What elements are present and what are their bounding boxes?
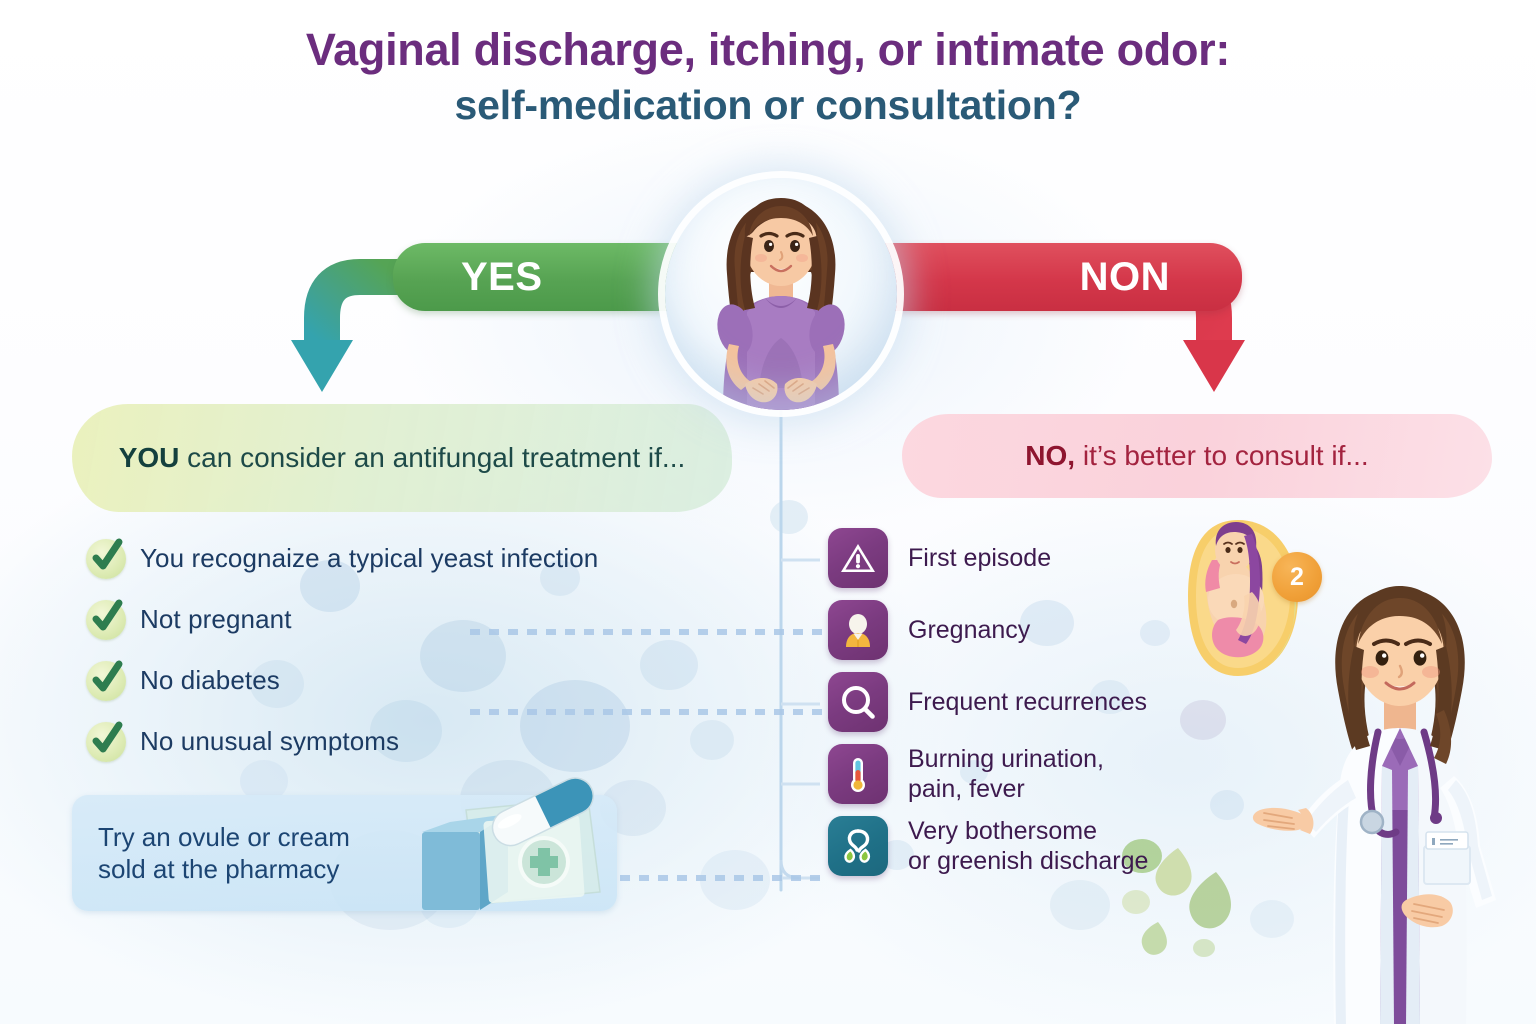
list-item: Very bothersome or greenish discharge [828, 816, 1248, 876]
right-callout: NO, it’s better to consult if... [902, 414, 1492, 498]
check-icon [86, 661, 126, 701]
list-item: Burning urination, pain, fever [828, 744, 1248, 804]
warning-triangle-icon [828, 528, 888, 588]
right-callout-rest: it’s better to consult if... [1075, 440, 1369, 471]
list-item: Gregnancy [828, 600, 1248, 660]
risk-label: Gregnancy [908, 615, 1030, 645]
list-item: First episode [828, 528, 1248, 588]
checklist-label: You recognaize a typical yeast infection [140, 543, 598, 574]
yes-label: YES [461, 255, 543, 300]
risk-label: First episode [908, 543, 1051, 573]
title-line-2: self-medication or consultation? [0, 83, 1536, 127]
pharmacy-advice-text: Try an ovule or cream sold at the pharma… [72, 821, 428, 885]
discharge-icon [828, 816, 888, 876]
self-care-checklist: You recognaize a typical yeast infection… [86, 528, 746, 772]
risk-label-line-2: pain, fever [908, 774, 1104, 804]
checklist-label: Not pregnant [140, 604, 292, 635]
pregnancy-badge-number: 2 [1290, 563, 1304, 592]
pharmacy-advice-card: Try an ovule or cream sold at the pharma… [72, 795, 617, 911]
list-item: No diabetes [86, 650, 746, 711]
left-callout-lead: YOU [119, 442, 180, 473]
right-callout-lead: NO, [1025, 440, 1075, 471]
pharmacy-advice-line-1: Try an ovule or cream [98, 821, 428, 853]
list-item: Not pregnant [86, 589, 746, 650]
risk-label: Very bothersome or greenish discharge [908, 816, 1148, 876]
magnifier-icon [828, 672, 888, 732]
risk-label-line-2: or greenish discharge [908, 846, 1148, 876]
pharmacy-advice-line-2: sold at the pharmacy [98, 853, 428, 885]
risk-label: Burning urination, pain, fever [908, 744, 1104, 804]
check-icon [86, 539, 126, 579]
left-callout-rest: can consider an antifungal treatment if.… [179, 442, 685, 473]
left-callout: YOU can consider an antifungal treatment… [72, 404, 732, 512]
non-label: NON [1080, 255, 1170, 300]
thermometer-icon [828, 744, 888, 804]
check-icon [86, 600, 126, 640]
list-item: Frequent recurrences [828, 672, 1248, 732]
pregnancy-badge: 2 [1272, 552, 1322, 602]
list-item: No unusual symptoms [86, 711, 746, 772]
consult-risk-list: First episode Gregnancy Frequent rec [828, 528, 1248, 888]
infographic-canvas: Vaginal discharge, itching, or intimate … [0, 0, 1536, 1024]
page-title: Vaginal discharge, itching, or intimate … [0, 26, 1536, 128]
checklist-label: No unusual symptoms [140, 726, 399, 757]
check-icon [86, 722, 126, 762]
person-icon [828, 600, 888, 660]
risk-label-line-1: Very bothersome [908, 816, 1148, 846]
list-item: You recognaize a typical yeast infection [86, 528, 746, 589]
risk-label-line-1: Burning urination, [908, 744, 1104, 774]
risk-label: Frequent recurrences [908, 687, 1147, 717]
title-line-1: Vaginal discharge, itching, or intimate … [0, 26, 1536, 73]
checklist-label: No diabetes [140, 665, 280, 696]
central-woman-illustration [665, 178, 897, 410]
